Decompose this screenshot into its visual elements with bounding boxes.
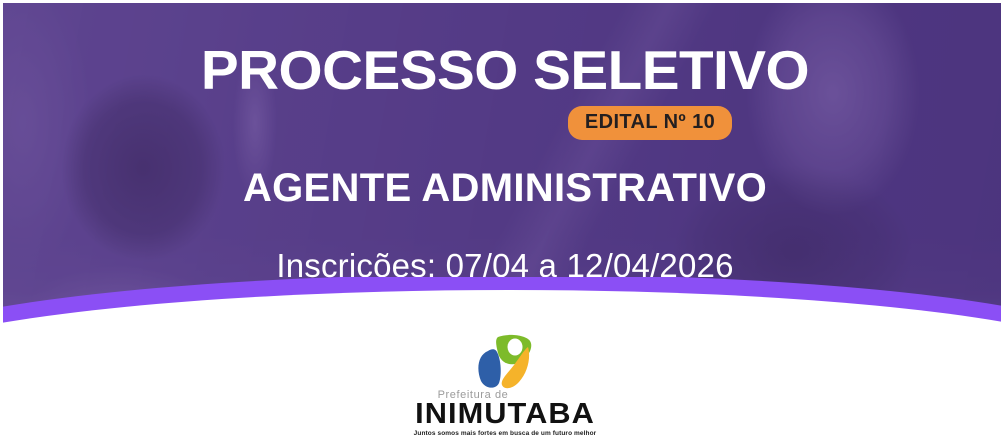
badge-row: EDITAL Nº 10 (3, 106, 1004, 140)
status-badge: EDITAL Nº 10 (568, 106, 732, 140)
inimutaba-emblem-icon (468, 333, 542, 391)
hero-section: PROCESSO SELETIVO EDITAL Nº 10 AGENTE AD… (3, 3, 1004, 355)
footer-section: Prefeitura de INIMUTABA Juntos somos mai… (3, 355, 1004, 441)
recruitment-banner: PROCESSO SELETIVO EDITAL Nº 10 AGENTE AD… (0, 0, 1004, 441)
logo-city-name: INIMUTABA (383, 401, 627, 429)
logo-tagline: Juntos somos mais fortes em busca de um … (390, 430, 620, 437)
job-position-title: AGENTE ADMINISTRATIVO (3, 168, 1004, 208)
city-hall-logo: Prefeitura de INIMUTABA Juntos somos mai… (390, 333, 620, 441)
page-title: PROCESSO SELETIVO (3, 43, 1004, 98)
